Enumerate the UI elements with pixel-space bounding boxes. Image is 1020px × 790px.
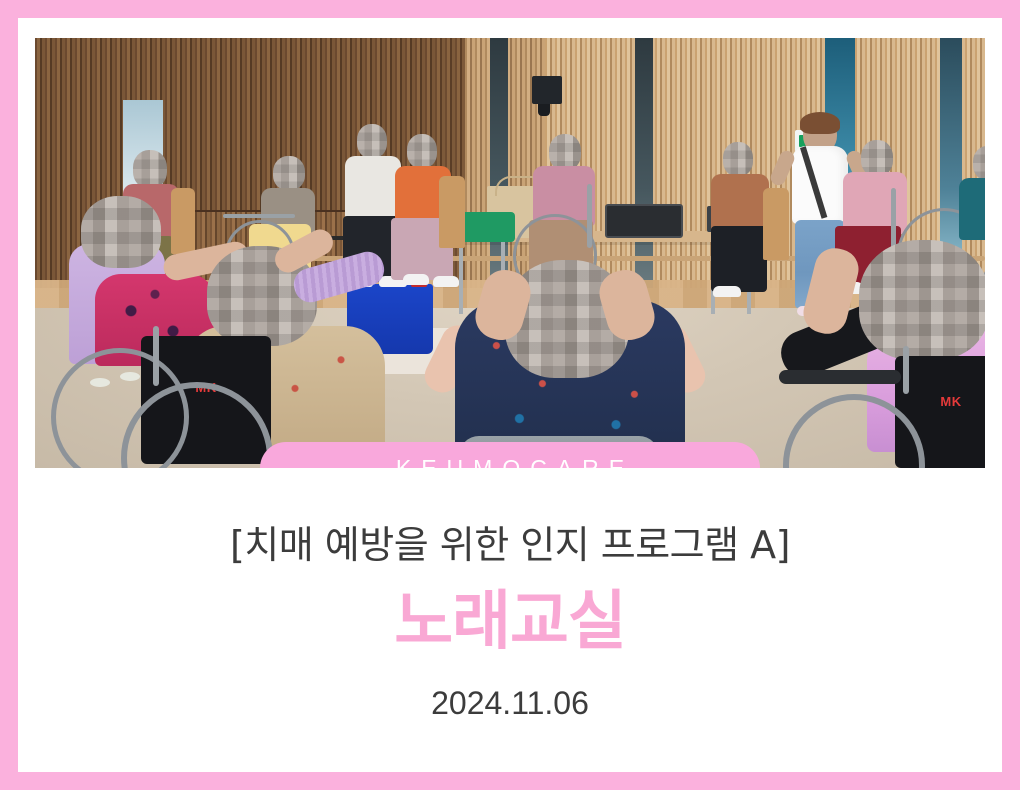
- event-date: 2024.11.06: [18, 685, 1002, 722]
- wheelchair-frame: [903, 346, 909, 394]
- page-title: 노래교실: [18, 586, 1002, 660]
- brand-badge: KEUMOCARE: [260, 442, 760, 468]
- wheelchair-brand-label: MK: [940, 394, 961, 409]
- activity-photo: MK: [35, 38, 985, 468]
- brand-badge-label: KEUMOCARE: [386, 455, 634, 469]
- program-subtitle: [치매 예방을 위한 인지 프로그램 A]: [18, 522, 1002, 570]
- poster-card: MK: [0, 0, 1020, 790]
- photo-canvas: MK: [35, 38, 985, 468]
- wheelchair-frame: [153, 326, 159, 386]
- poster-inner: MK: [18, 18, 1002, 772]
- poster-text-block: [치매 예방을 위한 인지 프로그램 A] 노래교실 2024.11.06: [18, 522, 1002, 722]
- pixelated-head: [81, 196, 161, 268]
- wheelchair-armrest: [779, 370, 901, 384]
- pixelated-head: [859, 240, 985, 360]
